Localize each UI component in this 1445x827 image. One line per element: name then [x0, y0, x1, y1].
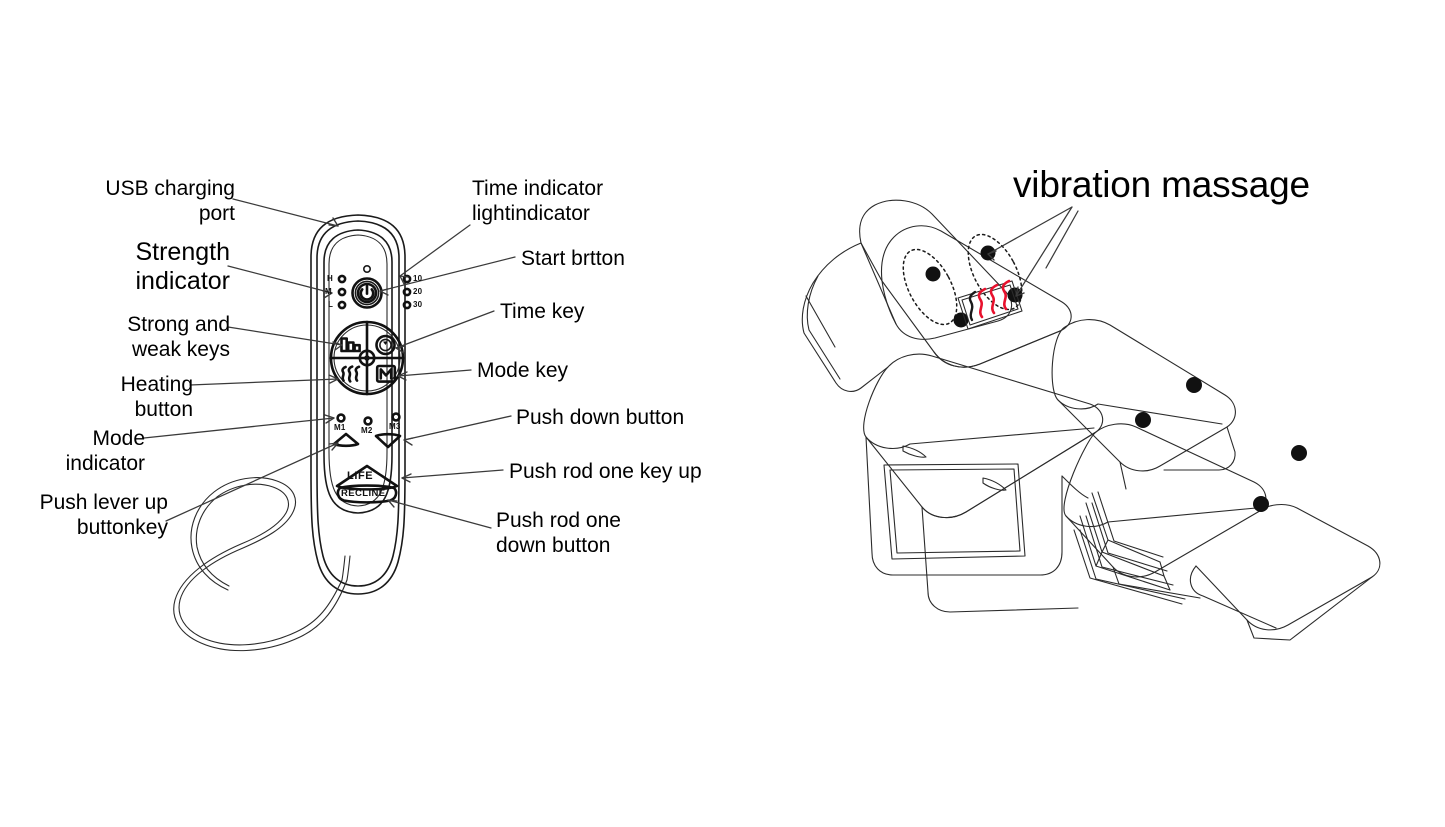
time-label-10: 10: [413, 274, 422, 283]
push-down-button: [376, 434, 400, 447]
vibration-motor-dot-1: [926, 267, 941, 282]
led-memory-m3: [393, 414, 400, 421]
chair-grip-slot-upper: [903, 446, 926, 457]
leader-start-button: [380, 257, 515, 291]
callout-mode-indicator: Mode indicator: [10, 426, 145, 476]
chair-seat-cushion-seam: [866, 428, 1094, 448]
chair-right-armrest-side: [1164, 427, 1235, 470]
vibration-motor-dot-7: [1291, 445, 1307, 461]
led-time-30: [404, 302, 410, 308]
remote-cord-2: [174, 484, 347, 650]
chair-backrest-panel: [882, 226, 1072, 367]
callout-push-rod-one-down-button: Push rod one down button: [496, 508, 716, 558]
chair-footrest: [1196, 505, 1380, 630]
callout-start-button: Start brtton: [521, 246, 741, 271]
recliner-chair-illustration: [802, 200, 1380, 640]
led-strength-low: [339, 302, 345, 308]
leader-time-indicator-light: [400, 225, 470, 276]
time-label-20: 20: [413, 287, 422, 296]
leader-head-pushroddown: [388, 500, 397, 507]
vibration-motor-dot-3: [981, 246, 996, 261]
leader-heating-button: [190, 379, 338, 385]
vibration-massage-title: vibration massage: [1013, 164, 1310, 206]
heat-waves-icon: [343, 367, 359, 382]
vibration-motor-dot-6: [1135, 412, 1151, 428]
callout-usb-charging-port: USB charging port: [80, 176, 235, 226]
chair-base-front-edge: [922, 507, 1078, 612]
leader-strong-weak-keys: [228, 327, 342, 345]
chair-footrest-side: [1247, 577, 1372, 640]
callout-push-down-button: Push down button: [516, 405, 766, 430]
vibration-motor-dot-8: [1253, 496, 1269, 512]
callout-push-lever-up-buttonkey: Push lever up buttonkey: [10, 490, 168, 540]
cord-exit-left: [342, 556, 345, 580]
remote-body-outline: [311, 215, 405, 594]
vibration-zone-oval-right: [957, 226, 1033, 318]
technical-diagram: H M L 10 20 30 M1 M2 M3 LIFE RECLINE USB…: [0, 0, 1445, 827]
chair-side-panel-inset: [884, 464, 1025, 559]
chair-right-armrest: [1052, 320, 1235, 471]
chair-back-left-wing-crease: [806, 296, 835, 347]
bar-chart-icon: [342, 339, 360, 352]
leader-mode-key: [398, 370, 471, 376]
callout-time-key: Time key: [500, 299, 700, 324]
clock-icon: [377, 336, 395, 354]
leader-push-rod-one-key-up: [402, 470, 503, 478]
time-label-30: 30: [413, 300, 422, 309]
memory-label-m3: M3: [389, 422, 401, 431]
chair-backrest-lower-edge: [934, 331, 1060, 367]
callout-push-rod-one-key-up: Push rod one key up: [509, 459, 789, 484]
memory-label-m2: M2: [361, 426, 373, 435]
callout-time-indicator-light: Time indicator lightindicator: [472, 176, 702, 226]
led-memory-m1: [338, 415, 345, 422]
vibration-massage-leaders: [988, 207, 1078, 296]
chair-grip-slot-lower: [983, 478, 1006, 490]
chair-back-left-wing: [802, 243, 888, 391]
chair-side-panel-inset-inner: [890, 469, 1020, 553]
cord-exit-right: [347, 556, 350, 580]
leader-vibration-seat: [1016, 207, 1072, 296]
strength-label-low: L: [328, 300, 333, 309]
led-memory-m2: [365, 418, 372, 425]
recline-button-label[interactable]: RECLINE: [341, 488, 386, 499]
leader-usb-charging-port: [233, 199, 338, 226]
callout-strength-indicator: Strength indicator: [60, 238, 230, 296]
leader-vibration-backrest: [988, 207, 1072, 254]
callout-heating-button: Heating button: [55, 372, 193, 422]
led-strength-high: [339, 276, 345, 282]
chair-footrest-edge: [1190, 566, 1276, 628]
leader-time-key: [396, 311, 494, 348]
led-status-top: [364, 266, 370, 272]
lift-button-label[interactable]: LIFE: [347, 470, 373, 482]
chair-base-left-panel: [866, 437, 1062, 575]
callout-mode-key: Mode key: [477, 358, 677, 383]
control-pad-hub-dot: [364, 355, 370, 361]
chair-recline-mechanism: [1074, 492, 1185, 604]
led-time-20: [404, 289, 410, 295]
chair-seat-front-edge: [922, 432, 1096, 518]
memory-label-m1: M1: [334, 423, 346, 432]
callout-strong-and-weak-keys: Strong and weak keys: [70, 312, 230, 362]
vibration-motor-dot-5: [1186, 377, 1202, 393]
strength-label-medium: M: [325, 287, 332, 296]
leader-push-down-button: [404, 416, 511, 440]
led-strength-medium: [339, 289, 345, 295]
strength-label-high: H: [327, 274, 333, 283]
